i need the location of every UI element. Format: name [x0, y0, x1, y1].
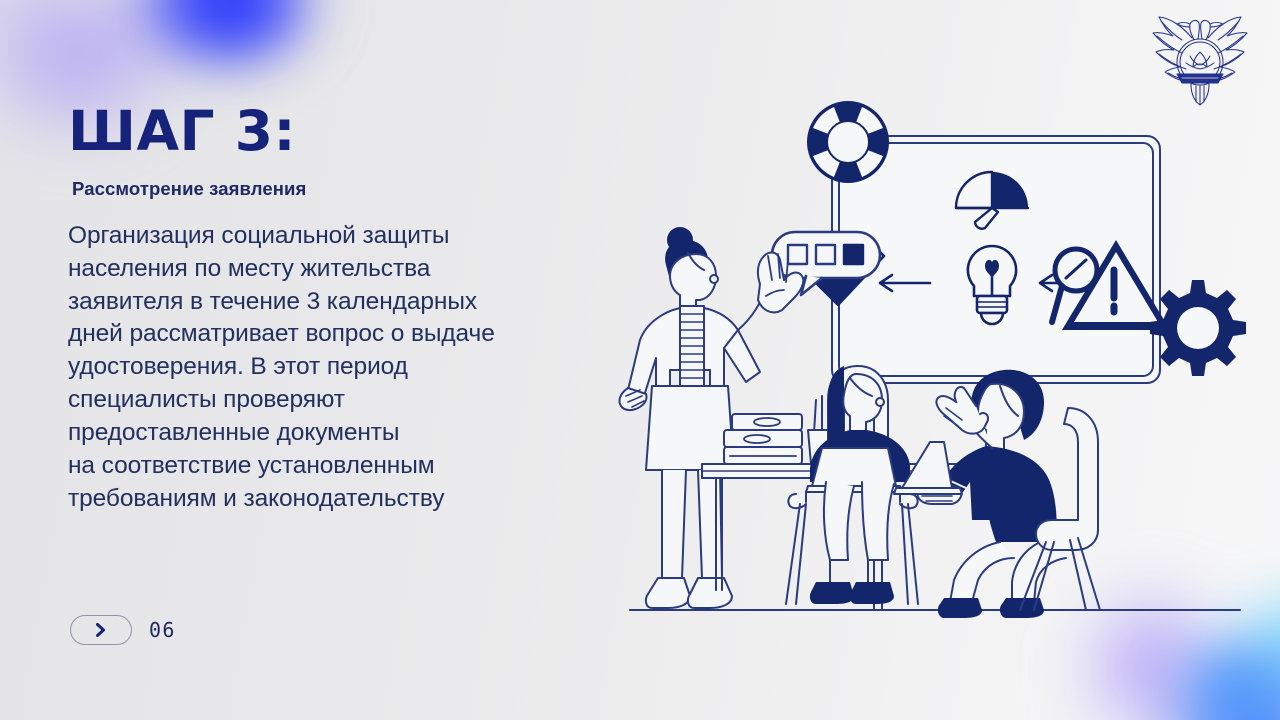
next-button[interactable] — [70, 615, 132, 645]
chevron-right-icon — [94, 622, 108, 638]
text-column: ШАГ 3: Рассмотрение заявления Организаци… — [68, 104, 598, 515]
seated-woman-figure — [786, 366, 918, 604]
slide-canvas: ШАГ 3: Рассмотрение заявления Организаци… — [0, 0, 1280, 720]
pager: 06 — [70, 615, 176, 645]
page-number: 06 — [149, 618, 176, 642]
seated-man-figure — [894, 370, 1100, 618]
gradient-blob-top-left-accent — [120, 0, 350, 100]
page-body-text: Организация социальной защиты населения … — [68, 220, 598, 515]
gear-icon — [1150, 280, 1246, 376]
page-title: ШАГ 3: — [68, 104, 598, 159]
office-consultation-illustration — [600, 90, 1260, 635]
lifebuoy-ring-icon — [808, 102, 888, 182]
books-stack — [724, 414, 802, 464]
page-subtitle: Рассмотрение заявления — [72, 178, 598, 200]
